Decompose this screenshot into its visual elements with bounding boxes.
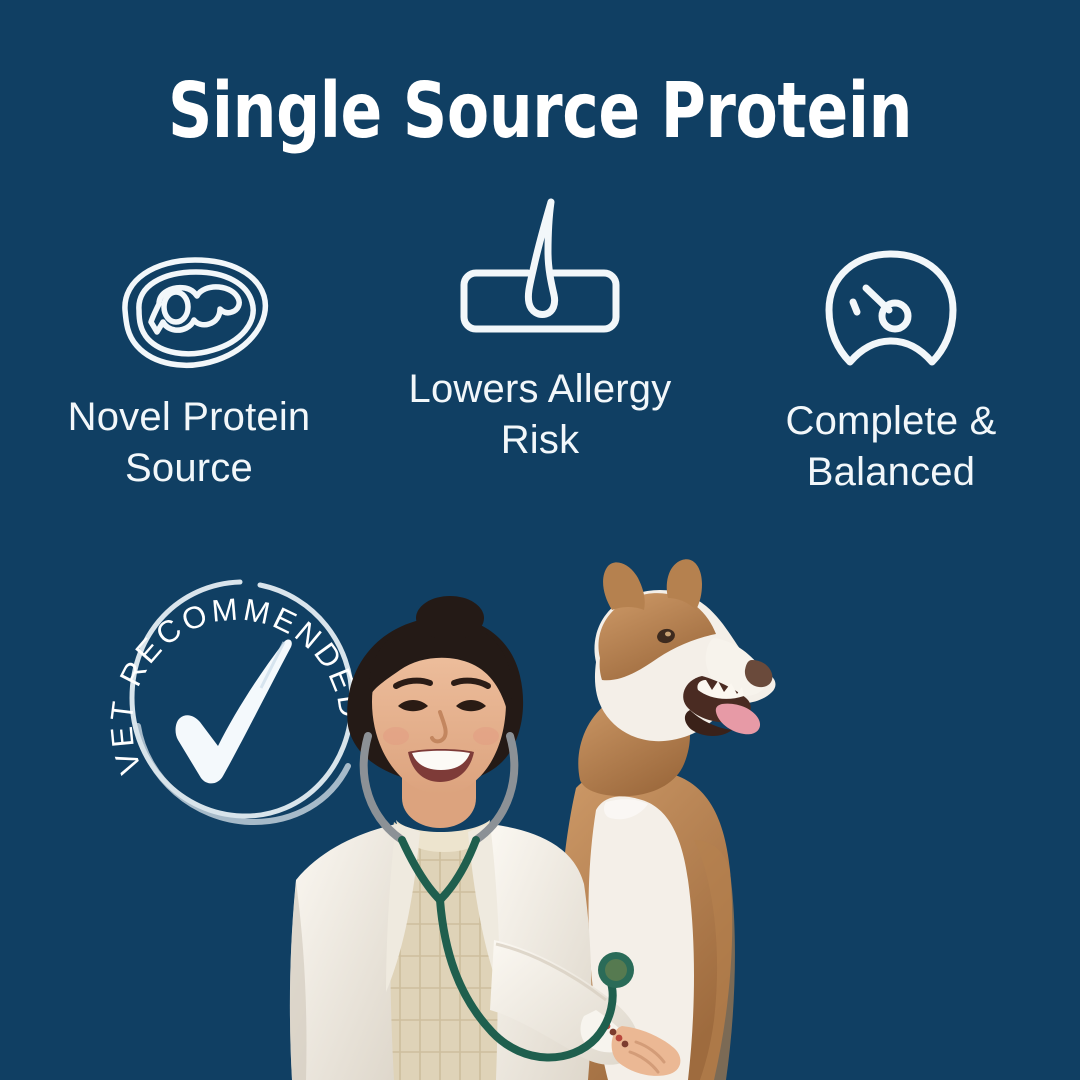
page-title: Single Source Protein xyxy=(108,72,972,153)
feature-label-line: Risk xyxy=(409,415,672,466)
vet-and-dog-photo xyxy=(244,540,844,1080)
feature-novel-protein-source: Novel Protein Source xyxy=(24,196,354,494)
feature-label-line: Complete & xyxy=(786,396,997,447)
poster-canvas: Single Source Protein Novel Protein Sou xyxy=(0,0,1080,1080)
feature-label: Novel Protein Source xyxy=(68,392,311,494)
feature-lowers-allergy-risk: Lowers Allergy Risk xyxy=(375,196,705,466)
gauge-icon xyxy=(816,254,966,374)
feature-label-line: Balanced xyxy=(786,447,997,498)
hair-follicle-skin-icon xyxy=(456,196,624,344)
feature-complete-and-balanced: Complete & Balanced xyxy=(726,196,1056,498)
feature-label: Lowers Allergy Risk xyxy=(409,364,672,466)
feature-row: Novel Protein Source Lowers Allergy Risk xyxy=(0,196,1080,516)
feature-label-line: Source xyxy=(68,443,311,494)
steak-icon xyxy=(99,250,279,370)
feature-label-line: Lowers Allergy xyxy=(409,364,672,415)
feature-label: Complete & Balanced xyxy=(786,396,997,498)
feature-label-line: Novel Protein xyxy=(68,392,311,443)
stethoscope-chestpiece xyxy=(598,952,634,988)
